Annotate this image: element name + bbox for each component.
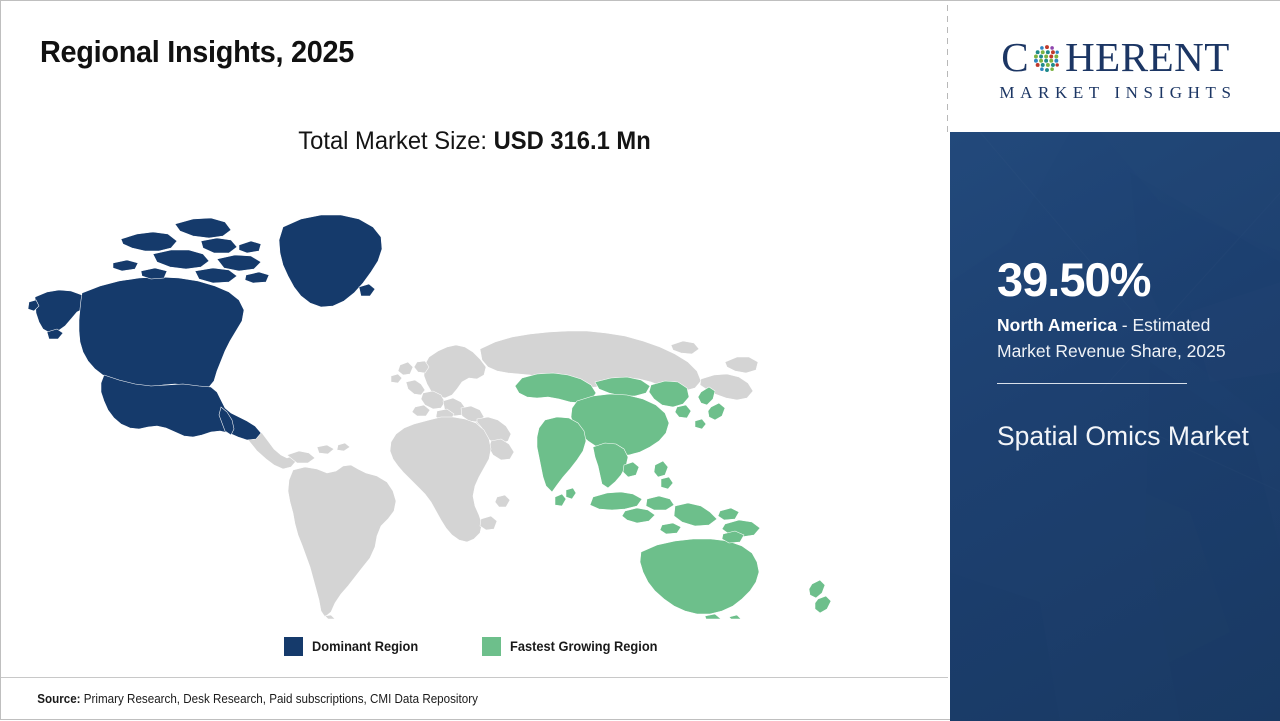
logo-wordmark: C bbox=[1001, 37, 1230, 78]
dotted-globe-icon bbox=[1030, 42, 1064, 76]
region-name: North America bbox=[997, 315, 1117, 335]
regional-share-description: North America - Estimated Market Revenue… bbox=[997, 313, 1259, 365]
source-footer: Source: Primary Research, Desk Research,… bbox=[1, 677, 948, 719]
green-square-icon bbox=[482, 637, 501, 656]
regional-stat-panel: 39.50% North America - Estimated Market … bbox=[950, 132, 1280, 721]
brand-logo: C bbox=[950, 1, 1280, 132]
total-market-size: Total Market Size: USD 316.1 Mn bbox=[25, 127, 925, 156]
vertical-divider bbox=[947, 5, 948, 133]
source-label: Source: bbox=[37, 692, 84, 706]
map-layer-dominant-region-north-america bbox=[28, 215, 382, 440]
world-map bbox=[25, 179, 925, 619]
legend-item-fastest-growing-region: Fastest Growing Region bbox=[482, 637, 665, 656]
regional-insights-infographic: Regional Insights, 2025 Total Market Siz… bbox=[0, 0, 1280, 720]
source-line: Source: Primary Research, Desk Research,… bbox=[1, 692, 478, 706]
regional-share-value: 39.50% bbox=[997, 256, 1259, 303]
left-content-panel: Regional Insights, 2025 Total Market Siz… bbox=[1, 1, 948, 719]
logo-letter-c: C bbox=[1001, 37, 1029, 78]
legend-label-fastest-growing-region: Fastest Growing Region bbox=[510, 639, 658, 654]
total-market-size-value: USD 316.1 Mn bbox=[494, 127, 651, 155]
stat-panel-content: 39.50% North America - Estimated Market … bbox=[997, 132, 1259, 455]
navy-square-icon bbox=[284, 637, 303, 656]
legend-label-dominant-region: Dominant Region bbox=[312, 639, 418, 654]
source-value: Primary Research, Desk Research, Paid su… bbox=[84, 692, 478, 706]
legend-item-dominant-region: Dominant Region bbox=[284, 637, 424, 656]
page-title: Regional Insights, 2025 bbox=[40, 34, 354, 70]
total-market-size-label: Total Market Size: bbox=[298, 127, 493, 155]
logo-subtitle: MARKET INSIGHTS bbox=[994, 83, 1236, 103]
logo-letters-herent: HERENT bbox=[1065, 37, 1230, 78]
map-legend: Dominant Region Fastest Growing Region bbox=[1, 637, 948, 656]
market-name: Spatial Omics Market bbox=[997, 419, 1259, 455]
map-layer-fastest-growing-region-asia-pacific bbox=[515, 373, 831, 619]
stat-divider-rule bbox=[997, 383, 1187, 384]
